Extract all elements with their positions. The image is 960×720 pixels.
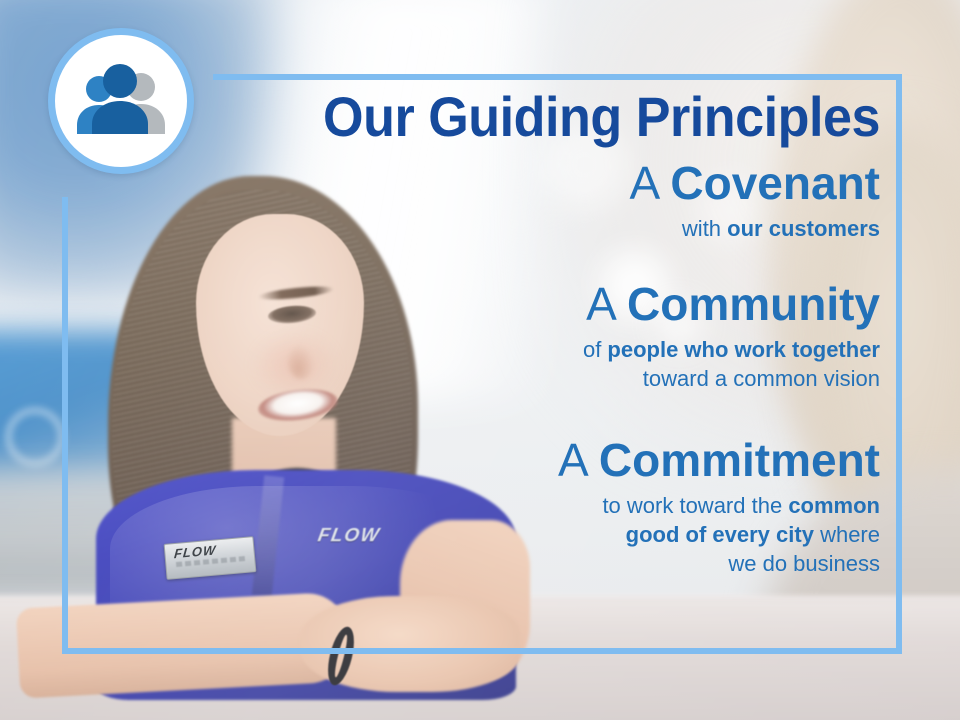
subtext-part: to work toward the <box>602 493 788 518</box>
principle-keyword: Commitment <box>599 434 880 486</box>
principle-subtext: of people who work together toward a com… <box>200 335 880 393</box>
subtext-line: toward a common vision <box>200 364 880 393</box>
principle-article: A <box>629 157 670 209</box>
principle-title: A Covenant <box>200 156 880 210</box>
principle-title: A Community <box>200 277 880 331</box>
subtext-part-bold: good of every city <box>626 522 814 547</box>
subtext-part-bold: people who work together <box>607 337 880 362</box>
frame-border-top <box>213 74 902 80</box>
principle-community: A Community of people who work together … <box>200 277 880 393</box>
people-group-icon <box>69 64 173 138</box>
subtext-part: with <box>682 216 727 241</box>
people-group-badge <box>48 28 194 174</box>
subtext-line: of people who work together <box>200 335 880 364</box>
principle-title: A Commitment <box>200 433 880 487</box>
subtext-part: where <box>814 522 880 547</box>
frame-border-bottom <box>62 648 902 654</box>
subtext-part-bold: our customers <box>727 216 880 241</box>
principle-keyword: Community <box>627 278 880 330</box>
subtext-line: good of every city where <box>200 520 880 549</box>
frame-border-left <box>62 197 68 654</box>
principle-covenant: A Covenant with our customers <box>200 156 880 243</box>
subtext-line: to work toward the common <box>200 491 880 520</box>
principle-subtext: to work toward the common good of every … <box>200 491 880 578</box>
frame-border-right <box>896 74 902 654</box>
principle-article: A <box>586 278 627 330</box>
page-title: Our Guiding Principles <box>248 86 880 148</box>
subtext-part-bold: common <box>788 493 880 518</box>
principle-subtext: with our customers <box>200 214 880 243</box>
subtext-line: we do business <box>200 549 880 578</box>
guiding-principles-graphic: FLOW FLOW Ou <box>0 0 960 720</box>
principle-article: A <box>558 434 599 486</box>
copy-block: Our Guiding Principles A Covenant with o… <box>200 86 880 578</box>
principle-commitment: A Commitment to work toward the common g… <box>200 433 880 578</box>
photo-car-emblem <box>6 408 64 466</box>
subtext-part: of <box>583 337 607 362</box>
principle-keyword: Covenant <box>670 157 880 209</box>
